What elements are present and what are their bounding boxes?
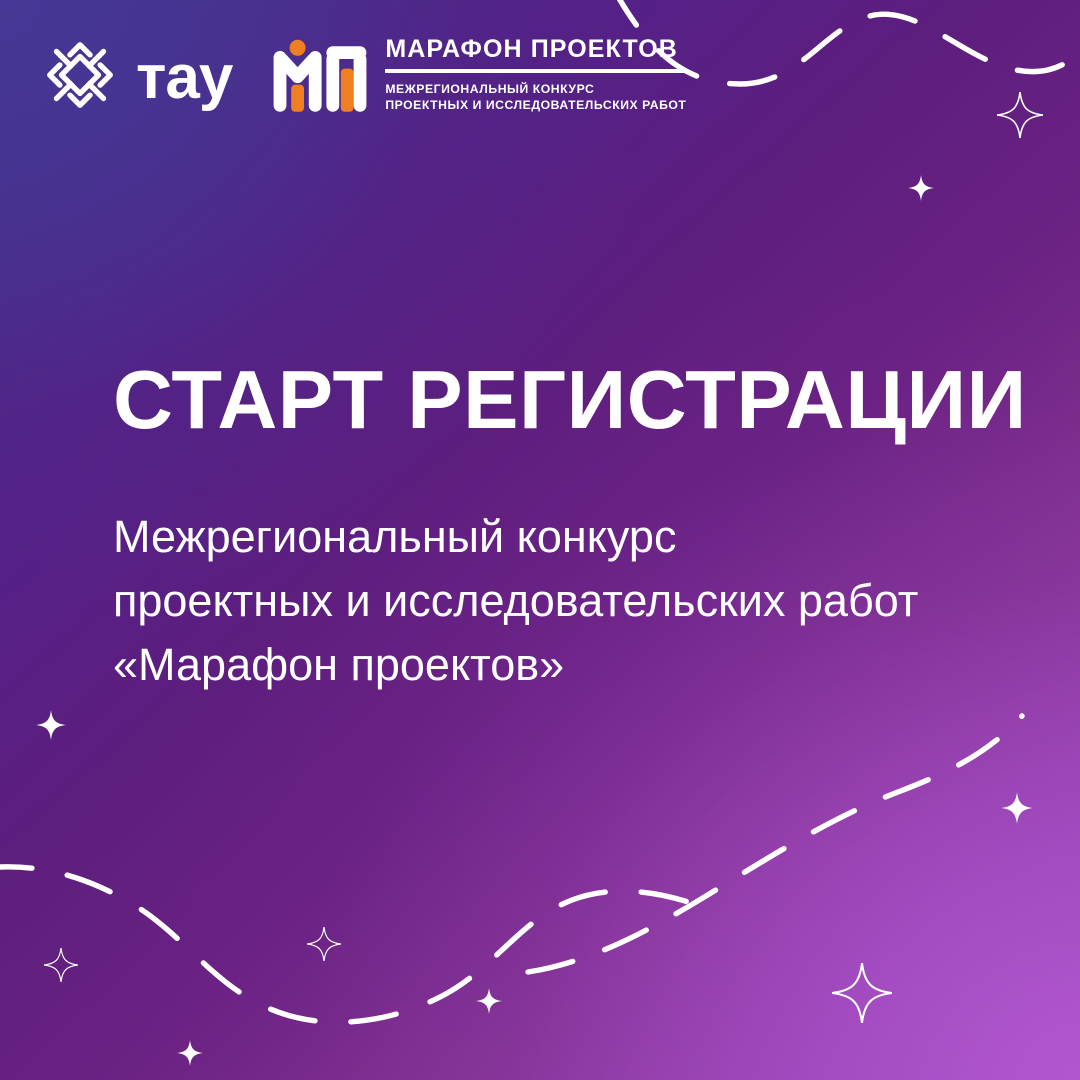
star-bottom-right-filled xyxy=(476,988,502,1014)
mp-divider xyxy=(385,69,686,73)
mp-subtitle-line-1: МЕЖРЕГИОНАЛЬНЫЙ КОНКУРС xyxy=(385,81,686,97)
subtitle-line-2: проектных и исследовательских работ xyxy=(113,569,918,633)
star-bottom-center-filled xyxy=(177,1040,203,1066)
mp-text-block: МАРАФОН ПРОЕКТОВ МЕЖРЕГИОНАЛЬНЫЙ КОНКУРС… xyxy=(385,37,686,113)
page-subtitle: Межрегиональный конкурс проектных и иссл… xyxy=(113,505,918,697)
subtitle-line-3: «Марафон проектов» xyxy=(113,633,918,697)
tau-wordmark: тау xyxy=(136,53,232,103)
mp-logo[interactable]: МАРАФОН ПРОЕКТОВ МЕЖРЕГИОНАЛЬНЫЙ КОНКУРС… xyxy=(272,35,686,115)
star-left-upper-filled xyxy=(36,710,66,740)
star-right-filled xyxy=(1001,792,1033,824)
mp-monogram-icon xyxy=(272,35,368,115)
dashed-wave-bottom xyxy=(0,867,716,1022)
tau-ornament-icon xyxy=(38,33,122,117)
page-title: СТАРТ РЕГИСТРАЦИИ xyxy=(113,358,1027,441)
mp-title: МАРАФОН ПРОЕКТОВ xyxy=(385,37,686,62)
star-lower-right-outline xyxy=(832,963,892,1023)
tau-logo[interactable]: тау xyxy=(38,33,232,117)
star-top-right-outline xyxy=(997,92,1043,138)
mp-subtitle-line-2: ПРОЕКТНЫХ И ИССЛЕДОВАТЕЛЬСКИХ РАБОТ xyxy=(385,97,686,113)
dashed-wave-right xyxy=(528,716,1022,972)
logo-bar: тау xyxy=(38,33,686,117)
star-left-lower-outline xyxy=(44,948,78,982)
star-top-mid-filled xyxy=(908,175,934,201)
star-bottom-mid-outline xyxy=(307,927,341,961)
subtitle-line-1: Межрегиональный конкурс xyxy=(113,505,918,569)
poster-canvas: тау xyxy=(0,0,1080,1080)
